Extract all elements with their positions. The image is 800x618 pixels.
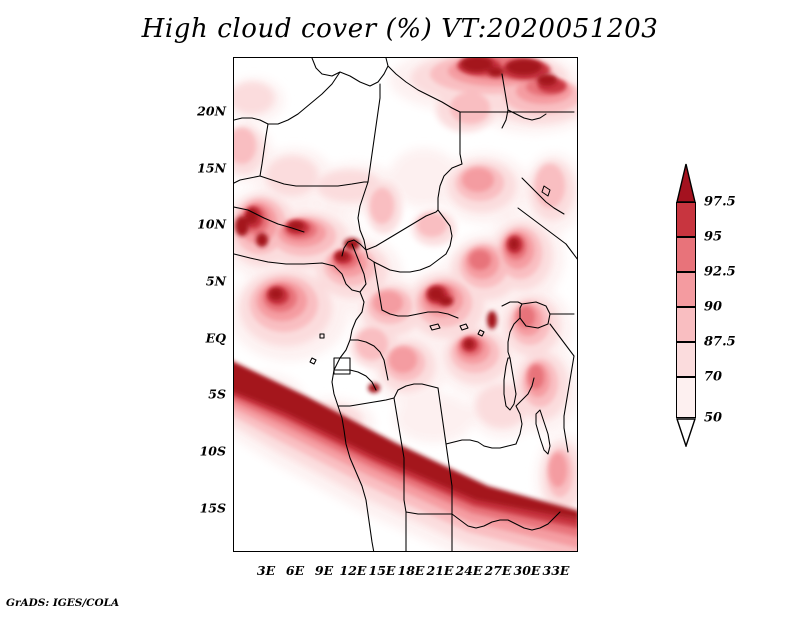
xtick-9E — [325, 551, 326, 552]
map-plot-area — [233, 57, 578, 552]
y-axis-label-2: 10N — [197, 217, 226, 232]
y-axis-label-1: 15N — [197, 161, 226, 176]
ytick-5N — [233, 282, 234, 283]
ytick-15S — [233, 509, 234, 510]
xtick-24E — [470, 551, 471, 552]
y-axis-label-7: 15S — [200, 501, 226, 516]
colorbar-band-87.5-90 — [676, 307, 696, 342]
grads-plot-window: High cloud cover (%) VT:2020051203 — [0, 0, 800, 618]
ytick-EQ — [233, 339, 234, 340]
y-axis-label-3: 5N — [206, 274, 226, 289]
ytick-10N — [233, 225, 234, 226]
colorbar-band-92.5-95 — [676, 237, 696, 272]
colorbar-label-70: 70 — [704, 370, 722, 385]
colorbar-label-97.5: 97.5 — [704, 195, 736, 210]
y-axis-label-4: EQ — [206, 331, 226, 346]
colorbar-label-87.5: 87.5 — [704, 335, 736, 350]
x-axis-label-9: 30E — [514, 563, 541, 578]
y-axis-label-6: 10S — [200, 444, 226, 459]
xtick-30E — [528, 551, 529, 552]
colorbar: 97.5 95 92.5 90 87.5 70 50 — [672, 163, 700, 447]
x-axis-label-1: 6E — [286, 563, 304, 578]
colorbar-band-95-97.5 — [676, 202, 696, 237]
x-axis-label-5: 18E — [398, 563, 425, 578]
map-canvas — [234, 58, 577, 551]
ytick-5S — [233, 395, 234, 396]
ytick-10S — [233, 452, 234, 453]
page-title: High cloud cover (%) VT:2020051203 — [0, 14, 800, 44]
xtick-6E — [296, 551, 297, 552]
xtick-18E — [412, 551, 413, 552]
xtick-33E — [557, 551, 558, 552]
colorbar-label-92.5: 92.5 — [704, 265, 736, 280]
xtick-3E — [267, 551, 268, 552]
colorbar-band-90-92.5 — [676, 272, 696, 307]
colorbar-label-90: 90 — [704, 300, 722, 315]
x-axis-label-6: 21E — [427, 563, 454, 578]
colorbar-label-50: 50 — [704, 411, 722, 426]
cloud-cover-raster — [234, 58, 577, 551]
x-axis-label-8: 27E — [485, 563, 512, 578]
grads-credit: GrADS: IGES/COLA — [6, 597, 119, 609]
colorbar-extend-min-arrow — [676, 418, 696, 447]
x-axis-label-7: 24E — [456, 563, 483, 578]
colorbar-band-70-87.5 — [676, 342, 696, 377]
x-axis-label-10: 33E — [543, 563, 570, 578]
ytick-15N — [233, 169, 234, 170]
x-axis-label-3: 12E — [340, 563, 367, 578]
x-axis-label-2: 9E — [315, 563, 333, 578]
xtick-12E — [354, 551, 355, 552]
xtick-15E — [383, 551, 384, 552]
y-axis-label-0: 20N — [197, 104, 226, 119]
xtick-21E — [441, 551, 442, 552]
x-axis-label-0: 3E — [257, 563, 275, 578]
x-axis-label-4: 15E — [369, 563, 396, 578]
y-axis-label-5: 5S — [208, 387, 226, 402]
colorbar-band-50-70 — [676, 377, 696, 418]
xtick-27E — [499, 551, 500, 552]
colorbar-label-95: 95 — [704, 230, 722, 245]
ytick-20N — [233, 112, 234, 113]
colorbar-extend-max-arrow — [676, 163, 696, 203]
